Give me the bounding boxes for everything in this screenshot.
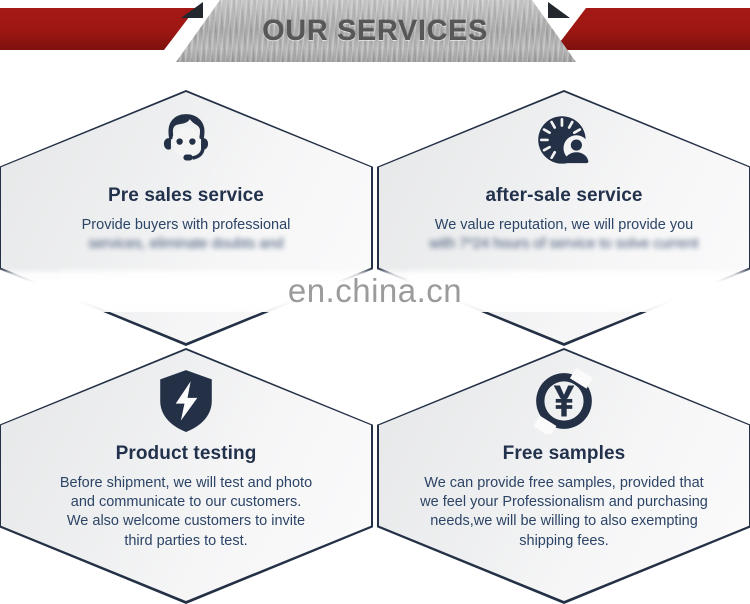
header-banner: OUR SERVICES <box>0 0 750 62</box>
card-desc-line: shipping fees. <box>399 532 729 551</box>
card-desc-line: needs,we will be willing to also exempti… <box>399 512 729 531</box>
page-title: OUR SERVICES <box>0 0 750 62</box>
card-desc-line: services, eliminate doubts and <box>21 235 351 254</box>
service-card-product-testing[interactable]: Product testing Before shipment, we will… <box>0 348 373 604</box>
card-title: Pre sales service <box>108 186 264 207</box>
card-desc-line: We can provide free samples, provided th… <box>399 474 729 493</box>
service-card-pre-sales[interactable]: Pre sales service Provide buyers with pr… <box>0 90 373 346</box>
card-desc-line: We value reputation, we will provide you <box>399 216 729 235</box>
card-desc-line: Provide buyers with professional <box>21 216 351 235</box>
service-card-free-samples[interactable]: Free samples We can provide free samples… <box>377 348 750 604</box>
shield-bolt-icon <box>155 366 217 436</box>
card-desc-line: with 7*24 hours of service to solve curr… <box>399 235 729 254</box>
headset-operator-icon <box>153 108 219 178</box>
card-desc-line: third parties to test. <box>21 532 351 551</box>
card-description: We can provide free samples, provided th… <box>399 474 729 551</box>
card-title: after-sale service <box>485 186 642 207</box>
card-desc-line: we feel your Professionalism and purchas… <box>399 493 729 512</box>
card-description: Before shipment, we will test and photo … <box>21 474 351 551</box>
service-card-after-sale[interactable]: after-sale service We value reputation, … <box>377 90 750 346</box>
card-description: Provide buyers with professional service… <box>21 216 351 255</box>
card-description: We value reputation, we will provide you… <box>399 216 729 255</box>
card-title: Free samples <box>503 444 626 465</box>
card-desc-line: Before shipment, we will test and photo <box>21 474 351 493</box>
clock-support-icon <box>531 108 597 178</box>
card-desc-line: and communicate to our customers. <box>21 493 351 512</box>
yen-refresh-icon <box>531 366 597 436</box>
card-title: Product testing <box>116 444 257 465</box>
card-desc-line: We also welcome customers to invite <box>21 512 351 531</box>
